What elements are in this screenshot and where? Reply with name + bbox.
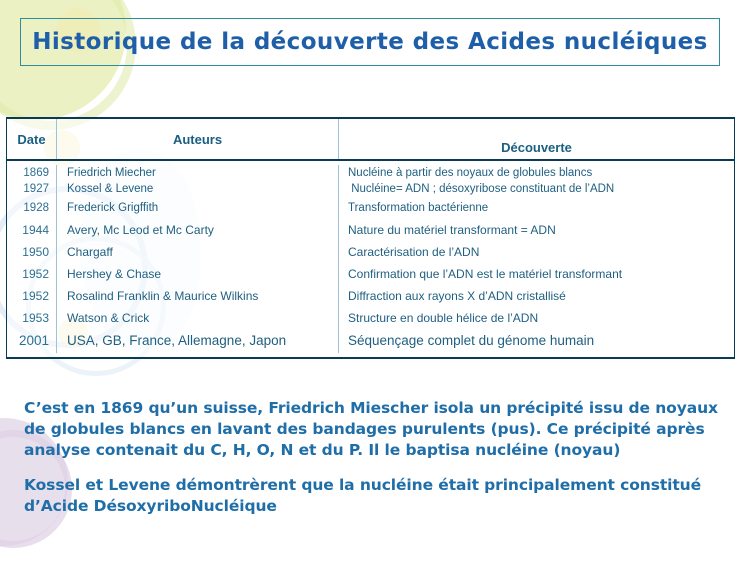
table-row: 1944 Avery, Mc Leod et Mc Carty Nature d… <box>7 219 734 241</box>
table-header-row: Date Auteurs Découverte <box>7 119 734 161</box>
cell-date: 1950 <box>7 241 56 263</box>
notes-block: C’est en 1869 qu’un suisse, Friedrich Mi… <box>24 398 724 517</box>
cell-auteurs: Friedrich Miecher <box>56 165 338 181</box>
note-paragraph-2: Kossel et Levene démontrèrent que la nuc… <box>24 475 724 517</box>
cell-date: 1869 <box>7 165 56 181</box>
table-body: 1869 Friedrich Miecher Nucléine à partir… <box>7 161 734 357</box>
cell-decouverte: Nucléine= ADN ; désoxyribose constituant… <box>338 181 734 198</box>
cell-date: 2001 <box>7 329 56 353</box>
table-row: 1927 Kossel & Levene Nucléine= ADN ; dés… <box>7 181 734 198</box>
table-row: 1928 Frederick Grigffith Transformation … <box>7 198 734 219</box>
page-title: Historique de la découverte des Acides n… <box>32 29 708 55</box>
cell-auteurs: Rosalind Franklin & Maurice Wilkins <box>56 285 338 307</box>
cell-decouverte: Caractérisation de l’ADN <box>338 241 734 263</box>
cell-decouverte: Nature du matériel transformant = ADN <box>338 219 734 241</box>
column-header-date: Date <box>7 119 56 159</box>
table-row: 1950 Chargaff Caractérisation de l’ADN <box>7 241 734 263</box>
cell-auteurs: Hershey & Chase <box>56 263 338 285</box>
column-header-auteurs: Auteurs <box>56 119 338 159</box>
cell-auteurs: Frederick Grigffith <box>56 198 338 219</box>
cell-auteurs: Chargaff <box>56 241 338 263</box>
cell-decouverte: Structure en double hélice de l’ADN <box>338 307 734 329</box>
table-row: 1952 Hershey & Chase Confirmation que l’… <box>7 263 734 285</box>
cell-decouverte: Transformation bactérienne <box>338 198 734 219</box>
table-row: 1869 Friedrich Miecher Nucléine à partir… <box>7 161 734 181</box>
cell-decouverte: Diffraction aux rayons X d’ADN cristalli… <box>338 285 734 307</box>
cell-date: 1927 <box>7 181 56 198</box>
cell-date: 1953 <box>7 307 56 329</box>
cell-decouverte: Nucléine à partir des noyaux de globules… <box>338 165 734 181</box>
note-paragraph-1: C’est en 1869 qu’un suisse, Friedrich Mi… <box>24 398 724 461</box>
cell-decouverte: Confirmation que l’ADN est le matériel t… <box>338 263 734 285</box>
cell-auteurs: Avery, Mc Leod et Mc Carty <box>56 219 338 241</box>
cell-date: 1952 <box>7 285 56 307</box>
cell-date: 1928 <box>7 198 56 219</box>
cell-auteurs: Watson & Crick <box>56 307 338 329</box>
cell-decouverte: Séquençage complet du génome humain <box>338 329 734 353</box>
cell-auteurs: Kossel & Levene <box>56 181 338 198</box>
table-row: 2001 USA, GB, France, Allemagne, Japon S… <box>7 329 734 357</box>
table-row: 1953 Watson & Crick Structure en double … <box>7 307 734 329</box>
cell-date: 1952 <box>7 263 56 285</box>
history-table: Date Auteurs Découverte 1869 Friedrich M… <box>6 117 735 359</box>
cell-date: 1944 <box>7 219 56 241</box>
cell-auteurs: USA, GB, France, Allemagne, Japon <box>56 329 338 353</box>
slide-title-box: Historique de la découverte des Acides n… <box>20 18 720 66</box>
table-row: 1952 Rosalind Franklin & Maurice Wilkins… <box>7 285 734 307</box>
column-header-decouverte: Découverte <box>338 119 734 159</box>
